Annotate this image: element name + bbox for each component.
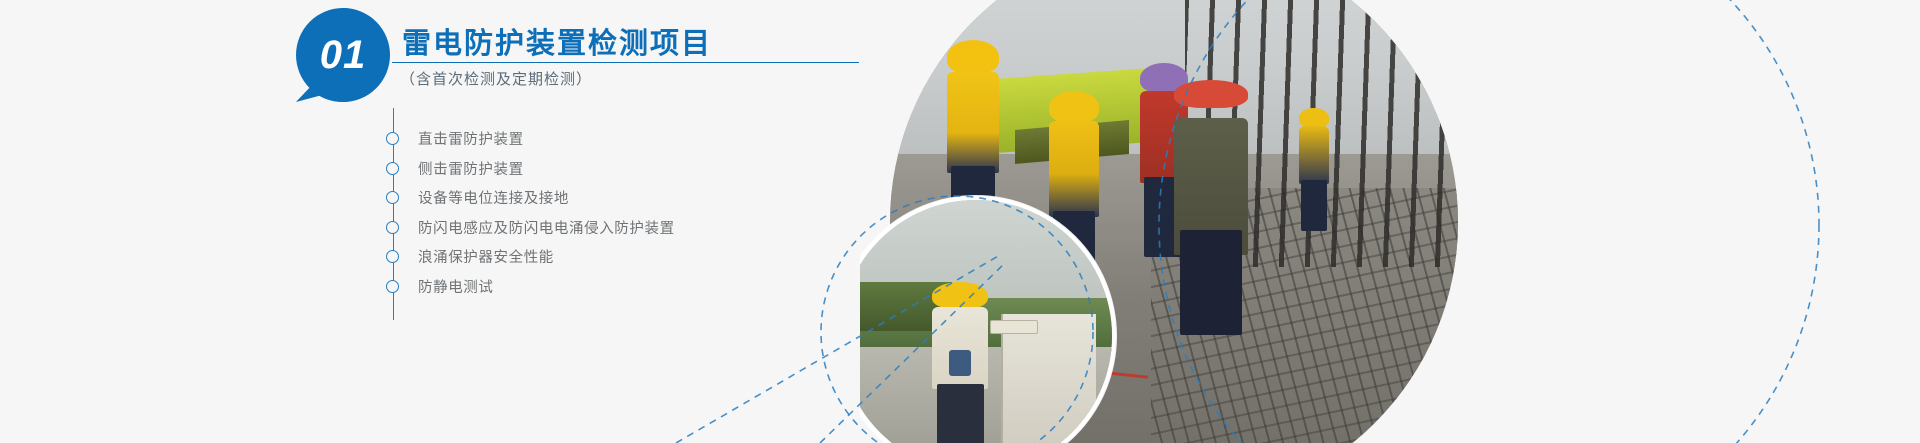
worker-legs: [1301, 180, 1326, 230]
photo-worker: [1299, 108, 1329, 228]
worker-body: [1299, 126, 1329, 184]
photo-area: [860, 0, 1920, 443]
worker-body: [947, 72, 999, 173]
page-title: 雷电防护装置检测项目: [402, 20, 712, 62]
worker-body: [932, 307, 988, 389]
bullet-circle-icon: [386, 221, 399, 234]
list-item[interactable]: 浪涌保护器安全性能: [386, 242, 675, 272]
list-item-label: 浪涌保护器安全性能: [418, 246, 554, 267]
worker-legs: [1180, 230, 1242, 335]
lightning-protection-banner: 01 雷电防护装置检测项目 （含首次检测及定期检测） 直击雷防护装置 侧击雷防护…: [0, 0, 1920, 443]
inset-test-device: [990, 320, 1038, 334]
list-item-label: 防闪电感应及防闪电电涌侵入防护装置: [418, 217, 675, 238]
hard-hat-icon: [1049, 91, 1099, 123]
worker-legs: [937, 384, 984, 443]
list-item-label: 设备等电位连接及接地: [418, 187, 569, 208]
list-item[interactable]: 防闪电感应及防闪电电涌侵入防护装置: [386, 213, 675, 243]
bullet-circle-icon: [386, 280, 399, 293]
section-number-label: 01: [296, 8, 390, 102]
hard-hat-icon: [1299, 108, 1329, 127]
bullet-circle-icon: [386, 162, 399, 175]
title-divider: [392, 62, 859, 63]
inset-tool-bag: [949, 350, 971, 376]
hard-hat-icon: [947, 40, 999, 74]
photo-worker: [1174, 80, 1248, 330]
bullet-circle-icon: [386, 191, 399, 204]
bullet-circle-icon: [386, 250, 399, 263]
hard-hat-icon: [1174, 80, 1248, 108]
bullet-circle-icon: [386, 132, 399, 145]
inspection-items-timeline: 直击雷防护装置 侧击雷防护装置 设备等电位连接及接地 防闪电感应及防闪电电涌侵入…: [386, 124, 675, 301]
page-subtitle: （含首次检测及定期检测）: [400, 68, 592, 89]
list-item[interactable]: 侧击雷防护装置: [386, 154, 675, 184]
section-number-badge: 01: [296, 8, 390, 102]
list-item[interactable]: 设备等电位连接及接地: [386, 183, 675, 213]
list-item[interactable]: 防静电测试: [386, 272, 675, 302]
inset-photo: [860, 196, 1116, 443]
list-item-label: 直击雷防护装置: [418, 128, 524, 149]
list-item-label: 防静电测试: [418, 276, 494, 297]
list-item[interactable]: 直击雷防护装置: [386, 124, 675, 154]
list-item-label: 侧击雷防护装置: [418, 158, 524, 179]
hard-hat-icon: [932, 282, 988, 309]
